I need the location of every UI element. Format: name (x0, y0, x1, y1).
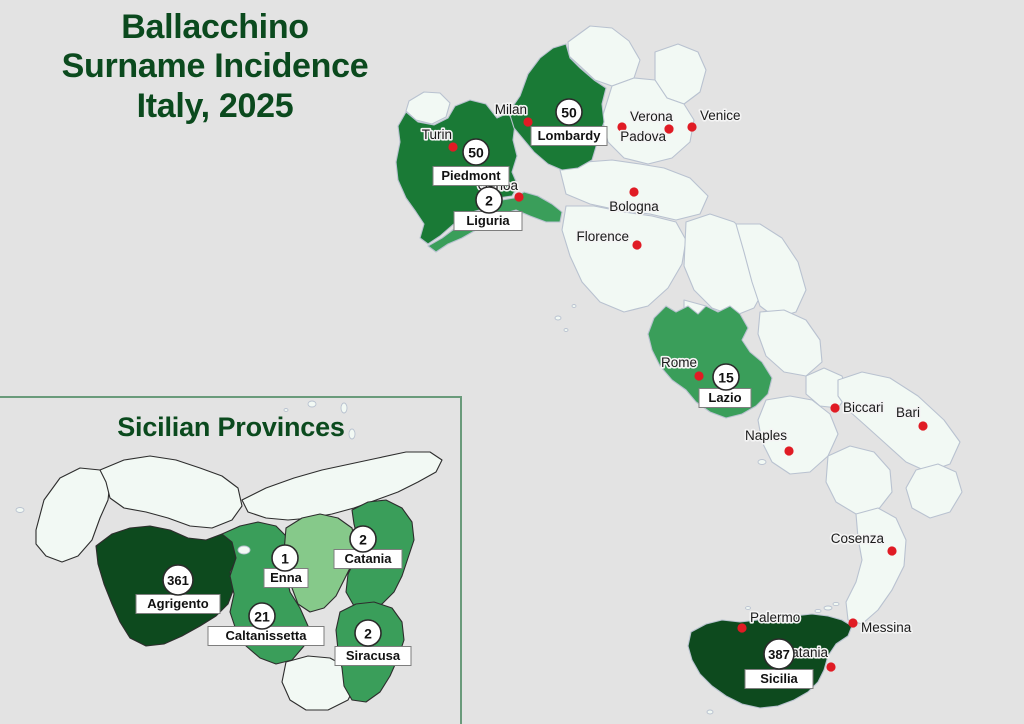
city-label: Turin (422, 127, 452, 142)
badge-value: 2 (485, 193, 493, 209)
region-value-badge: 387 (764, 639, 794, 669)
inset-frame-border (0, 396, 462, 724)
region-label: Sicilia (760, 671, 798, 686)
region-label: Piedmont (441, 168, 501, 183)
city-label: Cosenza (831, 531, 885, 546)
city-dot (737, 623, 746, 632)
region-value-badge: 2 (476, 187, 502, 213)
region-name-box: Lombardy (531, 127, 607, 146)
region-label: Liguria (466, 213, 510, 228)
city-label: Venice (700, 108, 741, 123)
city-dot (687, 122, 696, 131)
badge-value: 387 (768, 647, 790, 662)
city-dot (887, 546, 896, 555)
region-label: Lazio (708, 390, 741, 405)
region-value-badge: 50 (556, 99, 582, 125)
region-name-box: Liguria (454, 212, 522, 231)
city-dot (514, 192, 523, 201)
city-label: Bari (896, 405, 920, 420)
city-dot (664, 124, 673, 133)
city-label: Verona (630, 109, 673, 124)
city-dot (784, 446, 793, 455)
city-dot (918, 421, 927, 430)
region-value-badge: 50 (463, 139, 489, 165)
city-label: Palermo (750, 610, 800, 625)
badge-value: 15 (718, 370, 734, 386)
city-label: Milan (495, 102, 527, 117)
badge-value: 50 (561, 105, 577, 121)
city-dot (632, 240, 641, 249)
city-label: Florence (576, 229, 629, 244)
city-dot (448, 142, 457, 151)
region-name-box: Lazio (699, 389, 751, 408)
city-label: Bologna (609, 199, 659, 214)
region-value-badge: 15 (713, 364, 739, 390)
city-dot (848, 618, 857, 627)
city-dot (826, 662, 835, 671)
city-dot (629, 187, 638, 196)
region-label: Lombardy (538, 128, 602, 143)
city-label: Biccari (843, 400, 884, 415)
city-dot (830, 403, 839, 412)
map-page: TurinMilanGenoaVeronaPadovaVeniceBologna… (0, 0, 1024, 724)
city-label: Rome (661, 355, 697, 370)
city-label: Messina (861, 620, 912, 635)
region-name-box: Sicilia (745, 670, 813, 689)
city-dot (523, 117, 532, 126)
city-label: Naples (745, 428, 787, 443)
region-name-box: Piedmont (433, 167, 509, 186)
badge-value: 50 (468, 145, 484, 161)
city-label: Padova (620, 129, 666, 144)
city-dot (694, 371, 703, 380)
